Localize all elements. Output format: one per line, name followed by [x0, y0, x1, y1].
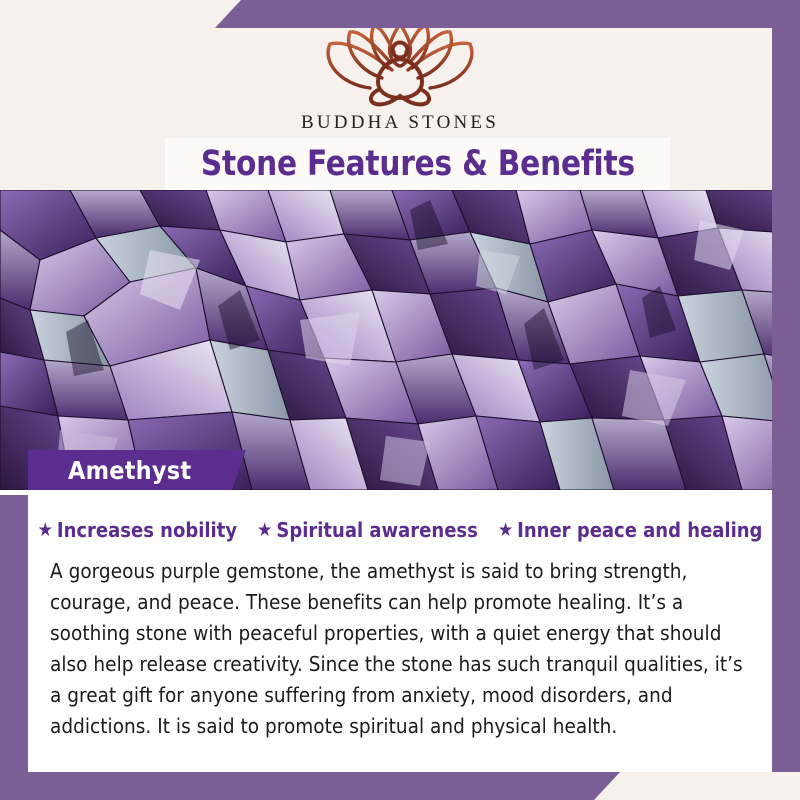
star-icon: ★ — [38, 521, 53, 540]
content-inner: ★ Increases nobility ★ Spiritual awarene… — [28, 490, 772, 772]
stone-features-poster: BUDDHA STONES Stone Features & Benefits — [0, 0, 800, 800]
frame-top-bar — [215, 0, 800, 28]
star-icon: ★ — [257, 521, 272, 540]
page-title-band: Stone Features & Benefits — [165, 138, 670, 190]
benefit-item-3: ★ Inner peace and healing — [498, 518, 763, 542]
benefit-label-3: Inner peace and healing — [517, 518, 762, 542]
stone-description: A gorgeous purple gemstone, the amethyst… — [50, 556, 750, 742]
amethyst-crystal-cluster-photo — [0, 190, 800, 490]
star-icon: ★ — [498, 521, 513, 540]
stone-name-label: Amethyst — [68, 456, 191, 485]
lotus-meditating-figure-icon — [310, 18, 490, 110]
benefit-item-1: ★ Increases nobility — [38, 518, 237, 542]
frame-left-bar — [0, 495, 28, 772]
benefit-item-2: ★ Spiritual awareness — [257, 518, 478, 542]
frame-bottom-bar — [0, 772, 620, 800]
brand-name: BUDDHA STONES — [0, 112, 800, 134]
brand-logo: BUDDHA STONES — [0, 18, 800, 134]
content-card: ★ Increases nobility ★ Spiritual awarene… — [0, 490, 800, 772]
benefits-list: ★ Increases nobility ★ Spiritual awarene… — [50, 490, 750, 542]
stone-name-ribbon: Amethyst — [28, 450, 246, 490]
frame-right-bar — [772, 0, 800, 772]
benefit-label-1: Increases nobility — [57, 518, 237, 542]
benefit-label-2: Spiritual awareness — [276, 518, 477, 542]
page-title: Stone Features & Benefits — [200, 144, 634, 184]
